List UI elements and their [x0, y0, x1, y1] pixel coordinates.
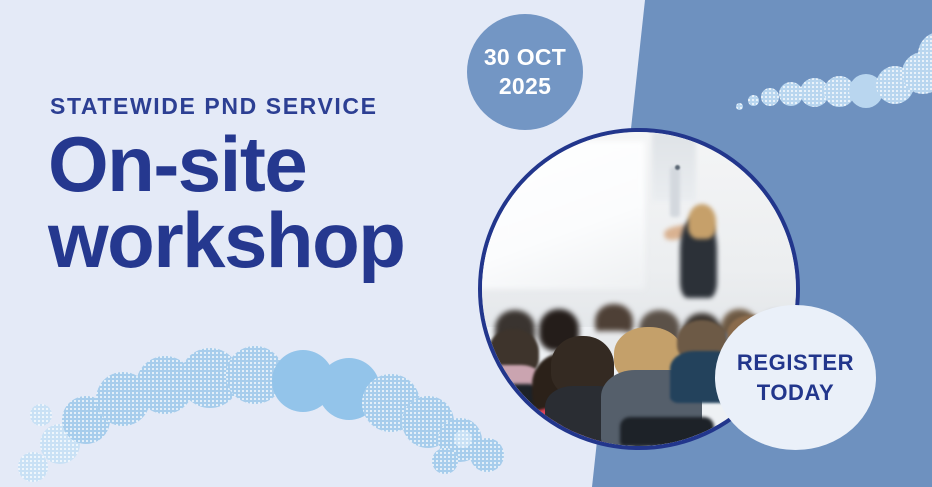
decorative-dot: [748, 95, 759, 106]
headline-line-1: On-site: [48, 126, 404, 202]
photo-presenter-hair: [688, 204, 716, 239]
page-title: On-site workshop: [48, 126, 404, 279]
headline-line-2: workshop: [48, 202, 404, 278]
photo-projector-mount: [670, 167, 680, 217]
date-badge: 30 OCT 2025: [467, 14, 583, 130]
register-today-badge[interactable]: REGISTER TODAY: [715, 305, 876, 450]
photo-projector-screen: [482, 141, 645, 289]
cta-line-1: REGISTER: [737, 348, 854, 378]
decorative-dot: [736, 103, 743, 110]
date-line-2: 2025: [499, 72, 551, 101]
decorative-dot: [30, 404, 52, 426]
cta-line-2: TODAY: [757, 378, 835, 408]
eyebrow-label: STATEWIDE PND SERVICE: [50, 93, 378, 120]
decorative-dot: [432, 448, 458, 474]
date-line-1: 30 OCT: [484, 43, 566, 72]
decorative-dot: [761, 88, 779, 106]
promo-banner: STATEWIDE PND SERVICE On-site workshop 3…: [0, 0, 932, 487]
decorative-dot: [454, 430, 472, 448]
